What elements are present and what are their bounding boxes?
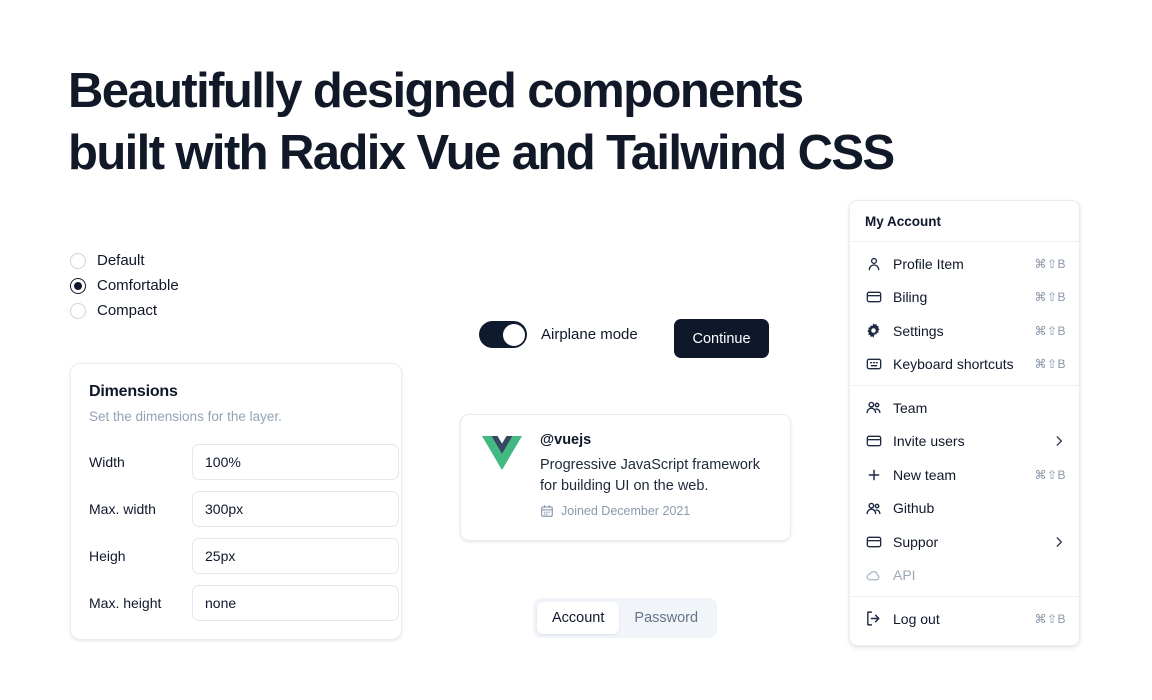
dimensions-card-subtitle: Set the dimensions for the layer. — [89, 409, 383, 424]
radio-circle-icon[interactable] — [70, 253, 86, 269]
dimensions-field-max-height: Max. height — [89, 579, 383, 626]
menu-item-label: Log out — [893, 611, 1034, 627]
field-label: Heigh — [89, 548, 192, 564]
account-dropdown-menu: My Account Profile Item ⌘⇧B Biling — [849, 200, 1080, 646]
menu-item-settings[interactable]: Settings ⌘⇧B — [850, 314, 1079, 348]
menu-item-label: API — [893, 567, 1066, 583]
switch-knob — [503, 324, 525, 346]
menu-group-account: Profile Item ⌘⇧B Biling ⌘⇧B — [850, 242, 1079, 385]
dimensions-card-title: Dimensions — [89, 383, 383, 401]
menu-item-shortcut: ⌘⇧B — [1034, 612, 1066, 626]
menu-item-label: Invite users — [893, 433, 1052, 449]
dimensions-field-width: Width — [89, 438, 383, 485]
hover-card-body: @vuejs Progressive JavaScript framework … — [540, 432, 773, 540]
hover-card-joined: Joined December 2021 — [540, 504, 773, 518]
users-icon — [865, 500, 882, 517]
radio-option-comfortable[interactable]: Comfortable — [70, 273, 290, 298]
field-label: Max. width — [89, 501, 192, 517]
cloud-icon — [865, 567, 882, 584]
radio-option-compact[interactable]: Compact — [70, 298, 290, 323]
menu-item-api: API — [850, 559, 1079, 593]
radio-option-label: Comfortable — [97, 278, 179, 293]
plus-icon — [865, 466, 882, 483]
calendar-icon — [540, 504, 554, 518]
menu-item-shortcut: ⌘⇧B — [1034, 357, 1066, 371]
hover-card-joined-text: Joined December 2021 — [561, 504, 690, 518]
chevron-right-icon — [1052, 434, 1066, 448]
radio-circle-icon[interactable] — [70, 303, 86, 319]
menu-item-shortcut: ⌘⇧B — [1034, 324, 1066, 338]
width-input[interactable] — [192, 444, 399, 480]
airplane-mode-label: Airplane mode — [541, 326, 638, 343]
credit-card-icon — [865, 289, 882, 306]
page-title: Beautifully designed components built wi… — [68, 60, 1028, 184]
vue-logo-icon — [481, 434, 523, 540]
logout-icon — [865, 610, 882, 627]
dimensions-field-height: Heigh — [89, 532, 383, 579]
user-icon — [865, 255, 882, 272]
field-label: Max. height — [89, 595, 192, 611]
page-root: Beautifully designed components built wi… — [0, 0, 1152, 700]
airplane-mode-row: Airplane mode — [479, 321, 638, 348]
menu-item-shortcut: ⌘⇧B — [1034, 468, 1066, 482]
menu-item-label: Keyboard shortcuts — [893, 356, 1034, 372]
gear-icon — [865, 322, 882, 339]
vue-hover-card: @vuejs Progressive JavaScript framework … — [460, 414, 791, 541]
radio-group: Default Comfortable Compact — [70, 248, 290, 323]
menu-item-label: Team — [893, 400, 1066, 416]
credit-card-icon — [865, 433, 882, 450]
menu-item-label: Settings — [893, 323, 1034, 339]
menu-item-log-out[interactable]: Log out ⌘⇧B — [850, 602, 1079, 636]
max-width-input[interactable] — [192, 491, 399, 527]
radio-option-label: Compact — [97, 303, 157, 318]
menu-item-label: New team — [893, 467, 1034, 483]
tabs-list: Account Password — [533, 598, 717, 638]
menu-item-label: Profile Item — [893, 256, 1034, 272]
page-title-line-1: Beautifully designed components — [68, 60, 1028, 122]
menu-item-profile[interactable]: Profile Item ⌘⇧B — [850, 247, 1079, 281]
dimensions-card: Dimensions Set the dimensions for the la… — [70, 363, 402, 640]
menu-item-github[interactable]: Github — [850, 492, 1079, 526]
tab-account[interactable]: Account — [537, 602, 619, 634]
menu-item-support[interactable]: Suppor — [850, 525, 1079, 559]
keyboard-icon — [865, 356, 882, 373]
page-title-line-2: built with Radix Vue and Tailwind CSS — [68, 122, 1028, 184]
menu-item-label: Biling — [893, 289, 1034, 305]
menu-item-label: Github — [893, 500, 1066, 516]
menu-item-label: Suppor — [893, 534, 1052, 550]
chevron-right-icon — [1052, 535, 1066, 549]
radio-circle-checked-icon[interactable] — [70, 278, 86, 294]
users-icon — [865, 399, 882, 416]
continue-button[interactable]: Continue — [674, 319, 769, 358]
dimensions-field-max-width: Max. width — [89, 485, 383, 532]
menu-item-new-team[interactable]: New team ⌘⇧B — [850, 458, 1079, 492]
menu-item-shortcut: ⌘⇧B — [1034, 290, 1066, 304]
credit-card-icon — [865, 533, 882, 550]
menu-header-label: My Account — [850, 201, 1079, 241]
menu-item-shortcut: ⌘⇧B — [1034, 257, 1066, 271]
hover-card-username: @vuejs — [540, 432, 773, 448]
height-input[interactable] — [192, 538, 399, 574]
field-label: Width — [89, 454, 192, 470]
tab-password[interactable]: Password — [619, 602, 713, 634]
menu-item-invite-users[interactable]: Invite users — [850, 425, 1079, 459]
menu-item-keyboard-shortcuts[interactable]: Keyboard shortcuts ⌘⇧B — [850, 348, 1079, 382]
radio-option-default[interactable]: Default — [70, 248, 290, 273]
menu-group-team: Team Invite users New team ⌘ — [850, 386, 1079, 596]
menu-item-team[interactable]: Team — [850, 391, 1079, 425]
menu-item-billing[interactable]: Biling ⌘⇧B — [850, 281, 1079, 315]
menu-group-session: Log out ⌘⇧B — [850, 597, 1079, 640]
radio-option-label: Default — [97, 253, 145, 268]
hover-card-description: Progressive JavaScript framework for bui… — [540, 455, 773, 497]
airplane-mode-switch[interactable] — [479, 321, 527, 348]
max-height-input[interactable] — [192, 585, 399, 621]
dimensions-field-list: Width Max. width Heigh Max. height — [89, 438, 383, 626]
